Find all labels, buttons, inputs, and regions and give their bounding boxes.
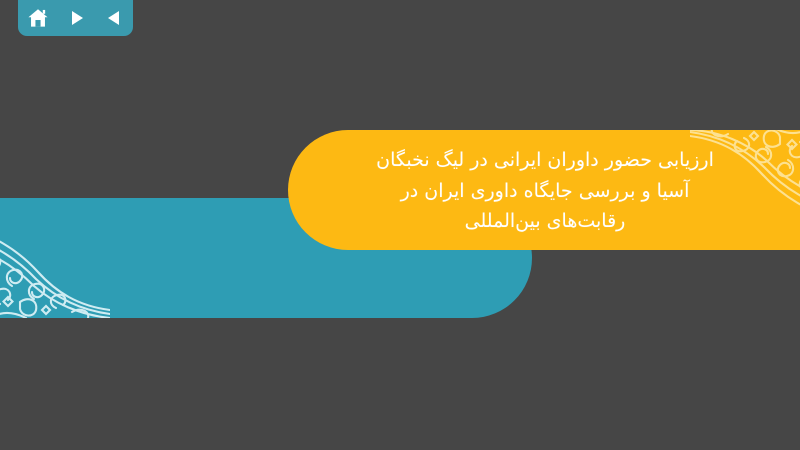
arabesque-corner-ornament xyxy=(690,130,800,250)
orange-title-band xyxy=(288,130,800,250)
forward-button[interactable] xyxy=(62,4,90,32)
home-button[interactable] xyxy=(24,4,52,32)
arabesque-corner-ornament xyxy=(0,198,110,318)
back-button[interactable] xyxy=(100,4,128,32)
navigation-toolbar xyxy=(18,0,133,36)
triangle-right-icon xyxy=(66,8,86,28)
home-icon xyxy=(27,7,49,29)
triangle-left-icon xyxy=(104,8,124,28)
presentation-slide: ارزیابی حضور داوران ایرانی در لیگ نخبگان… xyxy=(0,0,800,450)
